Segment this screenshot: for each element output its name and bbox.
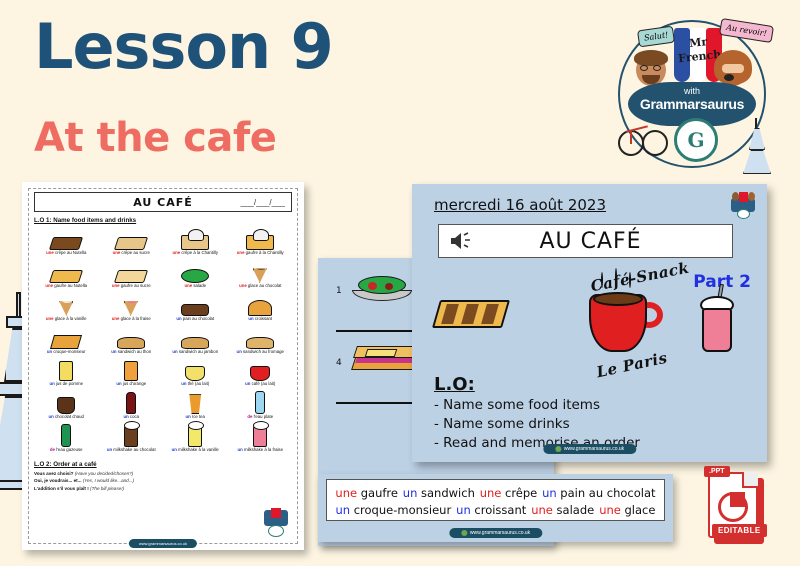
cola-bottle-icon — [99, 391, 164, 414]
waffle-nutella-icon — [34, 260, 99, 283]
au-cafe-worksheet[interactable]: AU CAFÉ ___/___/___ L.O 1: Name food ite… — [22, 182, 304, 550]
worksheet-item: un jus de pomme — [34, 357, 99, 390]
waffle-chocolate-icon — [436, 292, 508, 334]
worksheet-item: un sandwich au fromage — [228, 325, 293, 358]
worksheet-dialogue-line: L'addition s'il vous plaît ! (The bill p… — [34, 485, 292, 492]
eiffel-tower-small-icon — [740, 118, 774, 176]
vocab-row-1: une gaufreun sandwichune crêpeun pain au… — [333, 484, 658, 501]
worksheet-item-label: un Ice tea — [164, 415, 227, 420]
worksheet-item: un sandwich au jambon — [163, 325, 228, 358]
ppt-editable-label: EDITABLE — [712, 524, 767, 537]
worksheet-item-label: un café (au lait) — [228, 382, 291, 387]
worksheet-item-label: une gaufre au sucre — [99, 284, 162, 289]
worksheet-item: une crêpe à la Chantilly — [163, 226, 228, 259]
worksheet-item-label: une gaufre à la Chantilly — [228, 251, 291, 256]
grammarsaurus-logo: Mr French Salut! Au revoir! with Grammar… — [596, 6, 786, 176]
crepe-chantilly-icon — [163, 227, 228, 250]
bicycle-icon — [618, 124, 670, 158]
ice-tea-icon — [163, 391, 228, 414]
worksheet-item-label: un milkshake à la fraise — [228, 448, 291, 453]
worksheet-item-label: une crêpe au Nutella — [35, 251, 98, 256]
strawberry-milkshake-icon — [698, 288, 738, 356]
worksheet-item: une gaufre au sucre — [99, 259, 164, 292]
worksheet-lo2: L.O 2: Order at a café — [34, 461, 292, 468]
worksheet-date-lines: ___/___/___ — [241, 198, 286, 207]
worksheet-item-label: un milkshake au chocolat — [99, 448, 162, 453]
croissant-icon — [228, 293, 293, 316]
cheese-sandwich-icon — [228, 326, 293, 349]
vocab-word: une glace — [599, 503, 655, 517]
lo-heading: L.O: — [434, 374, 475, 395]
worksheet-item: une glace à la fraise — [99, 292, 164, 325]
worksheet-title-box: AU CAFÉ ___/___/___ — [34, 192, 292, 212]
worksheet-item-label: un sandwich au thon — [99, 350, 162, 355]
male-avatar — [636, 54, 666, 86]
slide-corner-logo — [728, 190, 758, 220]
worksheet-item-label: une glace au chocolat — [228, 284, 291, 289]
vocabulary-box: une gaufreun sandwichune crêpeun pain au… — [326, 479, 665, 521]
worksheet-dialogue-line: Vous avez choisi? (Have you decided/chos… — [34, 470, 292, 477]
slide-title-bar[interactable]: AU CAFÉ — [438, 224, 733, 258]
vocab-footer-text: www.grammarsaurus.co.uk — [470, 530, 530, 536]
still-water-icon — [228, 391, 293, 414]
worksheet-item: un coca — [99, 390, 164, 423]
worksheet-item-label: un croque-monsieur — [35, 350, 98, 355]
worksheet-item-label: un croissant — [228, 317, 291, 322]
worksheet-item: un croque-monsieur — [34, 325, 99, 358]
worksheet-item-label: un jus de pomme — [35, 382, 98, 387]
ppt-editable-badge[interactable]: .PPT EDITABLE — [706, 468, 772, 550]
worksheet-item: un milkshake à la fraise — [228, 423, 293, 456]
worksheet-item: un milkshake à la vanille — [163, 423, 228, 456]
worksheet-item-label: une gaufre au Nutella — [35, 284, 98, 289]
worksheet-item-grid: une crêpe au Nutellaune crêpe au sucreun… — [34, 226, 292, 456]
worksheet-item: un croissant — [228, 292, 293, 325]
order-number-4: 4 — [336, 358, 342, 368]
page-title: Lesson 9 — [34, 16, 333, 78]
vanilla-milkshake-icon — [163, 424, 228, 447]
slide-footer: www.grammarsaurus.co.uk — [543, 444, 636, 454]
worksheet-item-label: un jus d'orange — [99, 382, 162, 387]
sparkling-water-icon — [34, 424, 99, 447]
worksheet-item: une crêpe au sucre — [99, 226, 164, 259]
vocab-word: un pain au chocolat — [542, 486, 655, 500]
vocab-word: une salade — [531, 503, 594, 517]
worksheet-item-label: un chocolat chaud — [35, 415, 98, 420]
worksheet-item-label: une glace à la vanille — [35, 317, 98, 322]
vocab-word: une crêpe — [480, 486, 538, 500]
worksheet-item-label: une crêpe au sucre — [99, 251, 162, 256]
logo-brand-name: Grammarsaurus — [624, 96, 760, 112]
tea-cup-icon — [163, 358, 228, 381]
worksheet-item-label: de l'eau gazeuse — [35, 448, 98, 453]
footer-logo-dot — [461, 530, 467, 536]
crepe-nutella-icon — [34, 227, 99, 250]
female-avatar — [718, 54, 748, 86]
chocolate-icecream-icon — [228, 260, 293, 283]
worksheet-item-label: un milkshake à la vanille — [164, 448, 227, 453]
logo-monogram: G — [674, 118, 718, 162]
worksheet-item: une glace à la vanille — [34, 292, 99, 325]
vocab-word: une gaufre — [335, 486, 398, 500]
chocolate-milkshake-icon — [99, 424, 164, 447]
croque-monsieur-icon — [354, 342, 418, 378]
lo-item: - Name some drinks — [434, 415, 640, 434]
ham-sandwich-icon — [163, 326, 228, 349]
worksheet-item: une gaufre à la Chantilly — [228, 226, 293, 259]
worksheet-item: un chocolat chaud — [34, 390, 99, 423]
worksheet-item-label: une glace à la fraise — [99, 317, 162, 322]
worksheet-lo1: L.O 1: Name food items and drinks — [34, 217, 292, 224]
vocab-row-2: un croque-monsieurun croissantune salade… — [333, 501, 658, 518]
worksheet-item-label: un pain au chocolat — [164, 317, 227, 322]
salad-icon — [163, 260, 228, 283]
worksheet-item-label: un sandwich au jambon — [164, 350, 227, 355]
pie-chart-icon — [718, 492, 748, 522]
strawberry-milkshake-icon — [228, 424, 293, 447]
footer-logo-dot — [555, 446, 561, 452]
worksheet-item: un pain au chocolat — [163, 292, 228, 325]
worksheet-item: un sandwich au thon — [99, 325, 164, 358]
worksheet-footer: www.grammarsaurus.co.uk — [129, 539, 197, 548]
vocab-footer: www.grammarsaurus.co.uk — [449, 528, 542, 538]
worksheet-item: une crêpe au Nutella — [34, 226, 99, 259]
worksheet-item: une gaufre au Nutella — [34, 259, 99, 292]
pain-au-chocolat-icon — [163, 293, 228, 316]
worksheet-item: une glace au chocolat — [228, 259, 293, 292]
apple-juice-icon — [34, 358, 99, 381]
waffle-sugar-icon — [99, 260, 164, 283]
worksheet-dialogue-line: Oui, je voudrais... et... (Yes, I would … — [34, 477, 292, 484]
worksheet-item: un Ice tea — [163, 390, 228, 423]
ppt-format-label: .PPT — [704, 466, 730, 477]
vocabulary-card[interactable]: une gaufreun sandwichune crêpeun pain au… — [318, 474, 673, 542]
worksheet-item: un milkshake au chocolat — [99, 423, 164, 456]
worksheet-item: un café (au lait) — [228, 357, 293, 390]
worksheet-item: de l'eau plate — [228, 390, 293, 423]
vanilla-icecream-icon — [34, 293, 99, 316]
salad-icon — [352, 274, 412, 302]
worksheet-item-label: un coca — [99, 415, 162, 420]
vocab-word: un croque-monsieur — [335, 503, 451, 517]
vocab-word: un croissant — [456, 503, 526, 517]
worksheet-item-label: un thé (au lait) — [164, 382, 227, 387]
waffle-chantilly-icon — [228, 227, 293, 250]
lo-item: - Name some food items — [434, 396, 640, 415]
slide-footer-text: www.grammarsaurus.co.uk — [564, 446, 624, 452]
worksheet-item: de l'eau gazeuse — [34, 423, 99, 456]
speaker-audio-icon[interactable] — [449, 230, 475, 252]
au-cafe-title-slide[interactable]: mercredi 16 août 2023 AU CAFÉ Part 2 Caf… — [412, 184, 767, 462]
strawberry-icecream-icon — [99, 293, 164, 316]
red-coffee-mug-icon — [587, 286, 665, 356]
order-number-1: 1 — [336, 286, 342, 296]
crepe-sugar-icon — [99, 227, 164, 250]
slide-date: mercredi 16 août 2023 — [434, 196, 606, 214]
tuna-sandwich-icon — [99, 326, 164, 349]
worksheet-dialogue: Vous avez choisi? (Have you decided/chos… — [34, 470, 292, 492]
hot-chocolate-icon — [34, 391, 99, 414]
worksheet-item-label: de l'eau plate — [228, 415, 291, 420]
page-subtitle: At the cafe — [34, 118, 276, 158]
croque-monsieur-icon — [34, 326, 99, 349]
worksheet-item: une salade — [163, 259, 228, 292]
logo-with-label: with — [628, 86, 756, 96]
slide-title: AU CAFÉ — [475, 229, 732, 254]
worksheet-item-label: une crêpe à la Chantilly — [164, 251, 227, 256]
worksheet-item: un jus d'orange — [99, 357, 164, 390]
worksheet-item-label: une salade — [164, 284, 227, 289]
vocab-word: un sandwich — [403, 486, 475, 500]
worksheet-title: AU CAFÉ — [133, 196, 193, 209]
worksheet-item: un thé (au lait) — [163, 357, 228, 390]
orange-juice-icon — [99, 358, 164, 381]
worksheet-item-label: un sandwich au fromage — [228, 350, 291, 355]
worksheet-logo-stamp — [262, 508, 290, 538]
coffee-cup-icon — [228, 358, 293, 381]
